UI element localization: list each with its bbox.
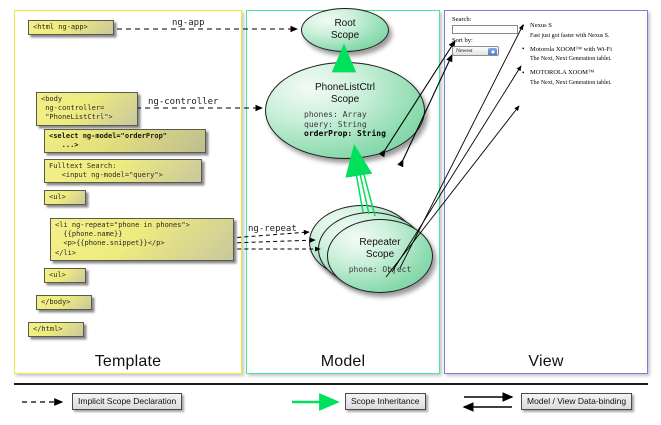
panel-template-caption: Template bbox=[15, 353, 241, 371]
code-box-li-ng-repeat: <li ng-repeat="phone in phones"> {{phone… bbox=[50, 218, 234, 261]
phone-snippet: The Next, Next Generation tablet. bbox=[522, 56, 650, 62]
edge-label-ng-repeat: ng-repeat bbox=[248, 224, 297, 234]
scope-repeater-title-1: Repeater bbox=[359, 237, 400, 249]
view-app: Search: Sort by: Newest Nexus S Fast jus… bbox=[452, 16, 642, 126]
scope-repeater: Repeater Scope phone: Object bbox=[327, 219, 433, 293]
legend-scope-inheritance: Scope Inheritance bbox=[345, 393, 426, 410]
scope-root: Root Scope bbox=[301, 8, 389, 52]
phone-name: MOTOROLA XOOM™ bbox=[522, 69, 650, 76]
code-box-html-close: </html> bbox=[28, 322, 84, 337]
sort-by-select[interactable]: Newest bbox=[452, 46, 499, 56]
sort-by-selected-value: Newest bbox=[456, 48, 473, 54]
scope-root-title-1: Root bbox=[334, 18, 355, 30]
scope-phonelistctrl: PhoneListCtrl Scope phones: Array query:… bbox=[265, 62, 425, 159]
code-box-ul-open: <ul> bbox=[44, 190, 86, 205]
scope-repeater-props: phone: Object bbox=[349, 265, 412, 275]
phone-snippet: The Next, Next Generation tablet. bbox=[522, 80, 650, 86]
scope-root-title-2: Scope bbox=[331, 30, 359, 42]
scope-prop-orderprop: orderProp: String bbox=[304, 129, 386, 138]
scope-prop-phone: phone: Object bbox=[349, 265, 412, 275]
code-box-body-close: </body> bbox=[36, 295, 92, 310]
scope-prop-query: query: String bbox=[304, 120, 386, 130]
phone-name: Motorola XOOM™ with Wi-Fi bbox=[522, 46, 650, 53]
phone-list: Nexus S Fast just got faster with Nexus … bbox=[522, 22, 650, 93]
list-item[interactable]: Nexus S Fast just got faster with Nexus … bbox=[522, 22, 650, 39]
scope-repeater-title-2: Scope bbox=[366, 249, 394, 261]
diagram-canvas: Template Model View bbox=[0, 0, 661, 425]
list-item[interactable]: Motorola XOOM™ with Wi-Fi The Next, Next… bbox=[522, 46, 650, 63]
code-box-fulltext-search: Fulltext Search: <input ng-model="query"… bbox=[44, 159, 202, 183]
phone-snippet: Fast just got faster with Nexus S. bbox=[522, 33, 650, 39]
list-item[interactable]: MOTOROLA XOOM™ The Next, Next Generation… bbox=[522, 69, 650, 86]
sort-by-label: Sort by: bbox=[452, 37, 473, 44]
legend-implicit-scope-declaration: Implicit Scope Declaration bbox=[72, 393, 182, 410]
panel-model-caption: Model bbox=[247, 353, 439, 371]
edge-label-ng-controller: ng-controller bbox=[148, 97, 218, 107]
scope-phonelistctrl-title-2: Scope bbox=[331, 94, 359, 106]
phone-name: Nexus S bbox=[522, 22, 650, 29]
panel-view-caption: View bbox=[445, 353, 647, 371]
scope-prop-phones: phones: Array bbox=[304, 110, 386, 120]
code-box-html-open: <html ng-app> bbox=[28, 20, 114, 35]
scope-phonelistctrl-props: phones: Array query: String orderProp: S… bbox=[304, 110, 386, 139]
scope-phonelistctrl-title-1: PhoneListCtrl bbox=[315, 82, 375, 94]
code-box-select: <select ng-model="orderProp" ...> bbox=[44, 129, 206, 153]
code-box-body-open: <body ng-controller= "PhoneListCtrl"> bbox=[36, 92, 138, 126]
chevron-updown-icon bbox=[488, 48, 497, 56]
legend-model-view-data-binding: Model / View Data-binding bbox=[521, 393, 632, 410]
code-box-ul-close: <ul> bbox=[44, 268, 86, 283]
search-label: Search: bbox=[452, 16, 472, 23]
edge-label-ng-app: ng-app bbox=[172, 18, 205, 28]
search-input[interactable] bbox=[452, 25, 518, 34]
